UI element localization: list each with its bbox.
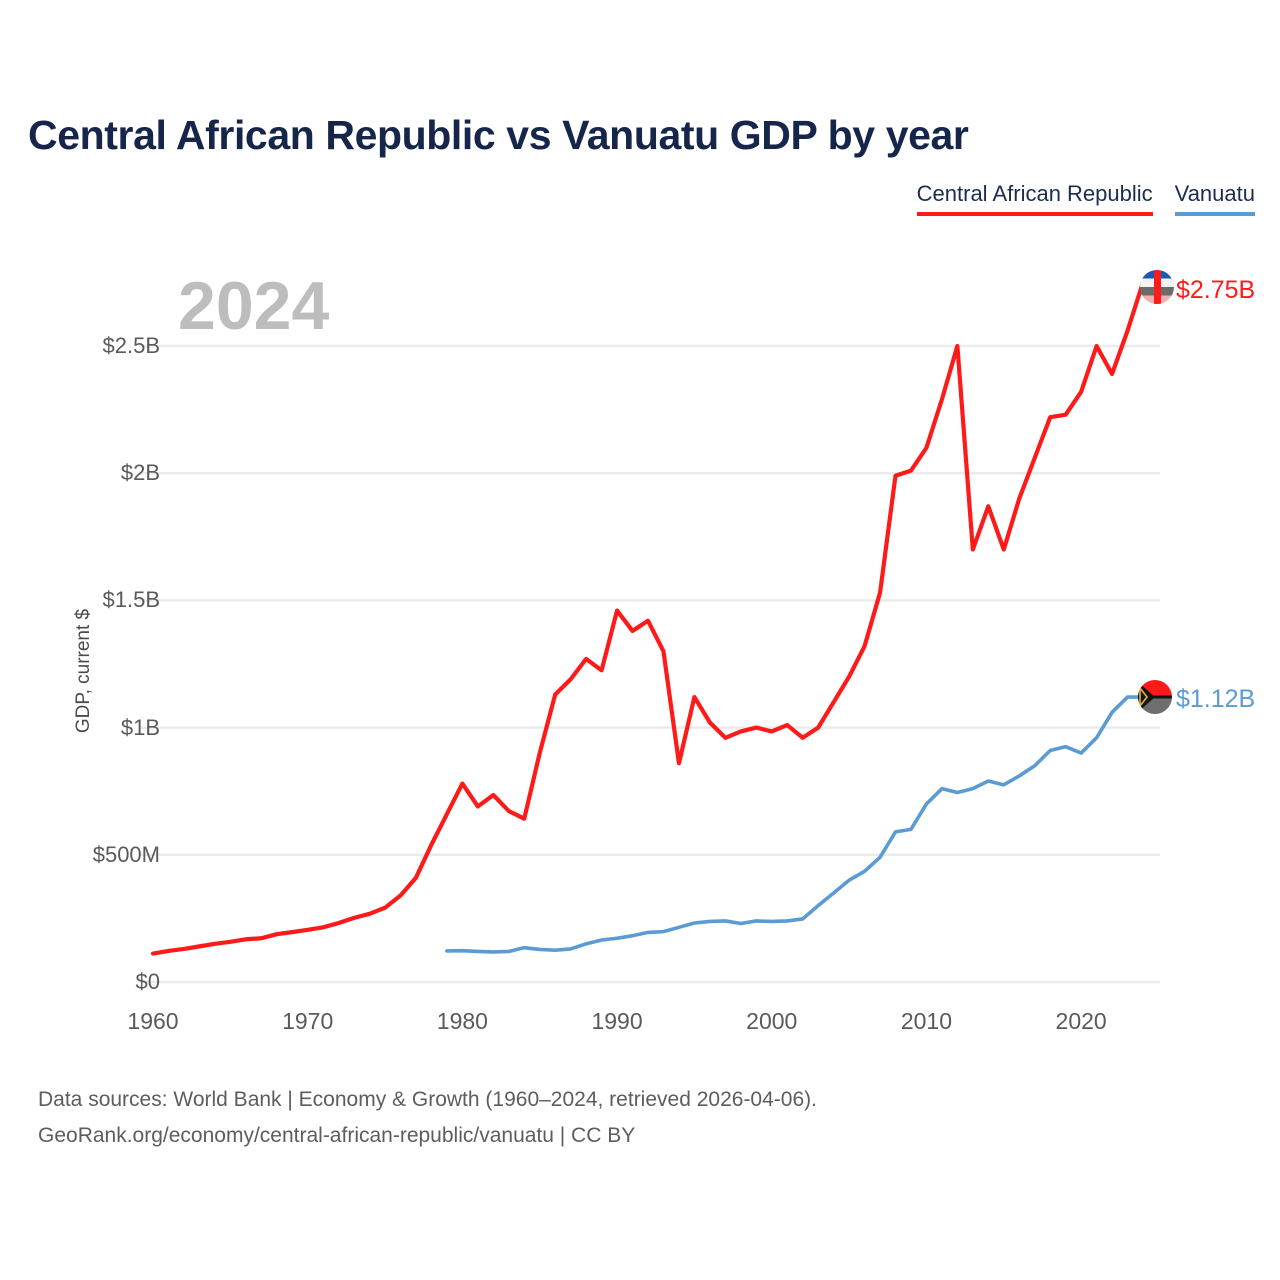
central-african-republic-end-label: $2.75B (1176, 278, 1255, 303)
series-line-central-african-republic (153, 282, 1143, 953)
x-axis-tick-label: 1970 (282, 1008, 333, 1035)
x-axis-tick-label: 1960 (127, 1008, 178, 1035)
x-axis-tick-label: 1990 (591, 1008, 642, 1035)
y-axis-tick-label: $2.5B (103, 333, 161, 359)
chart-page: Central African Republic vs Vanuatu GDP … (0, 0, 1280, 1280)
footer-sources: Data sources: World Bank | Economy & Gro… (38, 1082, 817, 1154)
x-axis-tick-label: 2020 (1056, 1008, 1107, 1035)
footer-line-1: Data sources: World Bank | Economy & Gro… (38, 1082, 817, 1118)
x-axis-tick-label: 2010 (901, 1008, 952, 1035)
footer-line-2[interactable]: GeoRank.org/economy/central-african-repu… (38, 1118, 817, 1154)
watermark-year: 2024 (178, 272, 329, 340)
series-line-vanuatu (447, 697, 1143, 952)
y-axis-tick-label: $0 (136, 969, 160, 995)
y-axis-tick-label: $500M (93, 842, 160, 868)
vanuatu-end-label: $1.12B (1176, 687, 1255, 712)
y-axis-tick-label: $1B (121, 715, 160, 741)
x-axis-tick-label: 2000 (746, 1008, 797, 1035)
central-african-republic-flag-icon (1140, 270, 1174, 304)
vanuatu-flag-icon (1138, 680, 1172, 714)
x-axis-tick-label: 1980 (437, 1008, 488, 1035)
y-axis-tick-label: $1.5B (103, 587, 161, 613)
y-axis-tick-label: $2B (121, 460, 160, 486)
